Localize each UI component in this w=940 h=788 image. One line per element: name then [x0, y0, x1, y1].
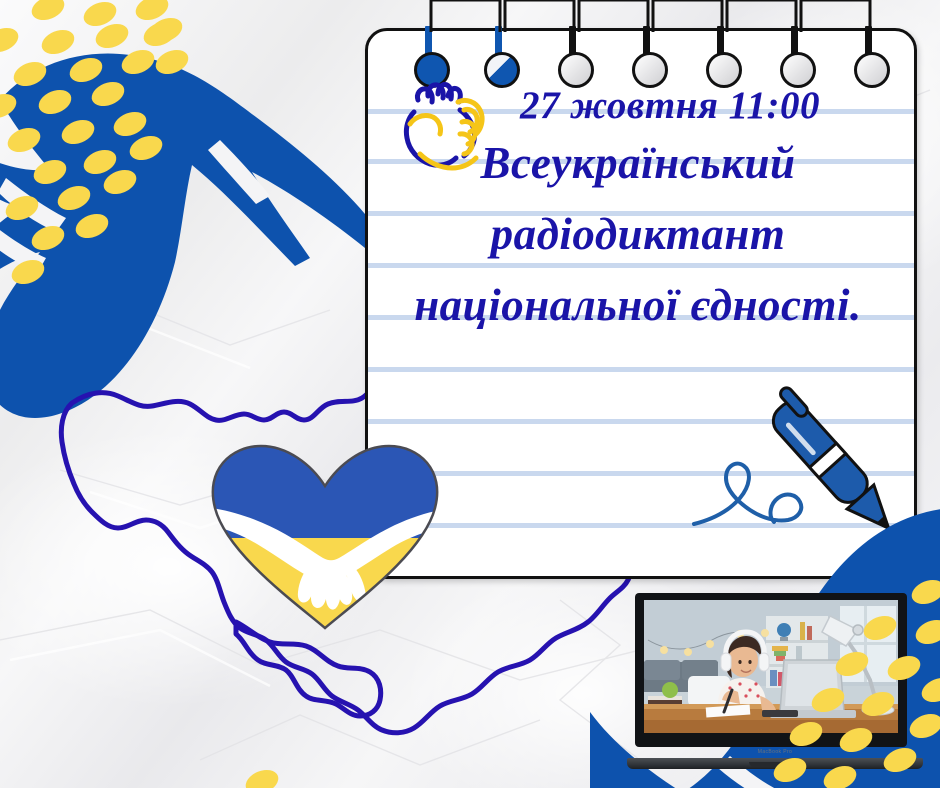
yellow-ellipse-dots-bottom-right [0, 0, 940, 788]
poster-canvas: 27 жовтня 11:00 Всеукраїнський радіодикт… [0, 0, 940, 788]
